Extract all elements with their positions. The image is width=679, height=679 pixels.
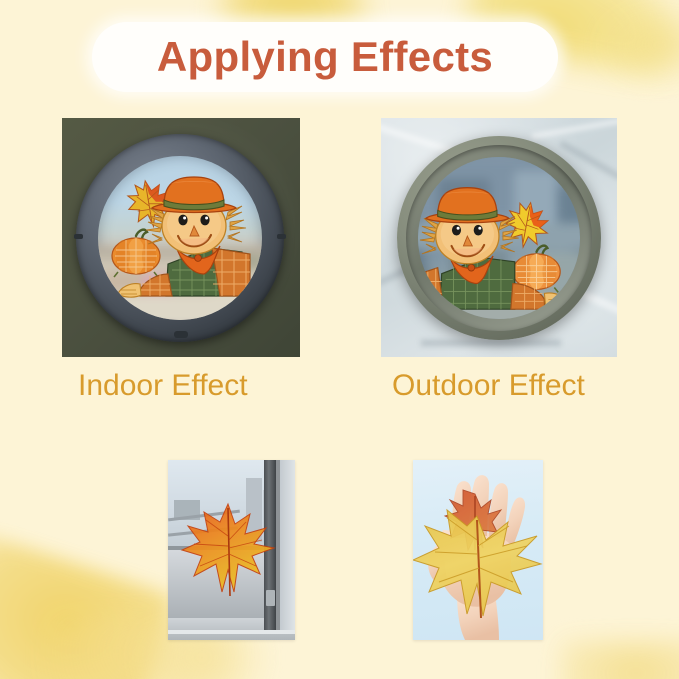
scarecrow-cling-artwork-indoor — [98, 160, 262, 320]
wall-texture — [421, 340, 561, 346]
round-window-outdoor — [397, 136, 601, 340]
leaf-blur-bottom-right-icon — [560, 640, 679, 679]
indoor-effect-caption: Indoor Effect — [78, 369, 248, 403]
door-glass-panel — [280, 460, 295, 630]
product-infographic: Applying Effects — [0, 0, 679, 679]
pumpkin-icon — [112, 230, 160, 277]
indoor-effect-photo — [62, 118, 300, 357]
window-hinge-right-icon — [277, 234, 286, 239]
open-hand — [413, 460, 543, 640]
window-glass-outdoor — [418, 157, 580, 319]
sill-highlight — [168, 630, 295, 634]
window-glass-indoor — [98, 156, 262, 320]
outdoor-effect-caption: Outdoor Effect — [392, 369, 585, 403]
window-latch-icon — [174, 331, 188, 338]
leaf-in-hand-photo — [413, 460, 543, 640]
leaf-on-glass-door-photo — [168, 460, 295, 640]
title-banner: Applying Effects — [92, 22, 558, 92]
round-window-indoor — [76, 134, 284, 342]
wall-texture — [531, 118, 617, 140]
maple-leaf-cling — [178, 500, 278, 600]
scarecrow-cling-artwork-outdoor — [418, 163, 578, 319]
window-hinge-left-icon — [74, 234, 83, 239]
leaf-blur-top-corner-icon — [600, 10, 679, 80]
page-title: Applying Effects — [157, 36, 493, 78]
outdoor-effect-photo — [381, 118, 617, 357]
